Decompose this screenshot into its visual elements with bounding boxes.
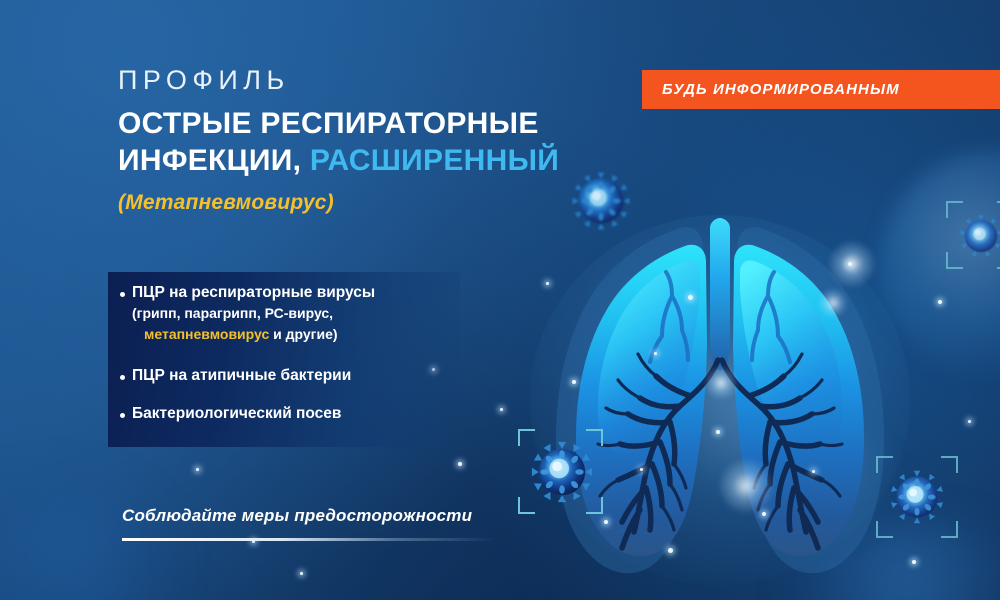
- highlighted-term: метапневмовирус: [144, 326, 269, 342]
- infographic-poster: ПРОФИЛЬ ОСТРЫЕ РЕСПИРАТОРНЫЕ ИНФЕКЦИИ, Р…: [0, 0, 1000, 600]
- subtitle-label: (Метапневмовирус): [118, 191, 638, 215]
- title-line-2-main: ИНФЕКЦИИ,: [118, 144, 301, 177]
- bullet-dot-icon: [120, 375, 125, 380]
- list-item: Бактериологический посев: [120, 404, 460, 424]
- list-item-label: ПЦР на атипичные бактерии: [132, 366, 351, 386]
- list-item: ПЦР на атипичные бактерии: [120, 366, 460, 386]
- list-item-sub-line-2: метапневмовирус и другие): [144, 324, 460, 345]
- virus-particle-far-right: [955, 210, 1000, 262]
- footer-divider: [122, 538, 497, 541]
- title-line-1: ОСТРЫЕ РЕСПИРАТОРНЫЕ: [118, 106, 638, 143]
- list-item-label: ПЦР на респираторные вирусы: [132, 283, 375, 303]
- status-badge: БУДЬ ИНФОРМИРОВАННЫМ: [642, 70, 1000, 109]
- list-item-sub-line-1: (грипп, парагрипп, РС-вирус,: [132, 303, 460, 324]
- list-item: ПЦР на респираторные вирусы: [120, 283, 460, 303]
- sparkle-dot: [968, 420, 971, 423]
- list-item-sub-tail: и другие): [269, 326, 337, 342]
- footer-label: Соблюдайте меры предосторожности: [122, 506, 522, 526]
- bullet-list: ПЦР на респираторные вирусы (грипп, пара…: [120, 283, 460, 424]
- bullet-dot-icon: [120, 292, 125, 297]
- sparkle-dot: [300, 572, 303, 575]
- bullet-dot-icon: [120, 413, 125, 418]
- sparkle-dot: [938, 300, 942, 304]
- sparkle-dot: [458, 462, 462, 466]
- status-badge-label: БУДЬ ИНФОРМИРОВАННЫМ: [662, 81, 900, 98]
- lungs-illustration: [520, 210, 920, 600]
- list-item-label: Бактериологический посев: [132, 404, 341, 424]
- title-line-2-accent: РАСШИРЕННЫЙ: [310, 144, 559, 177]
- kicker-label: ПРОФИЛЬ: [118, 66, 638, 94]
- sparkle-dot: [196, 468, 199, 471]
- virus-particle-left: [527, 437, 597, 507]
- virus-particle-right: [885, 465, 949, 529]
- footer-block: Соблюдайте меры предосторожности: [122, 506, 522, 541]
- sparkle-dot: [500, 408, 503, 411]
- title-line-2: ИНФЕКЦИИ, РАСШИРЕННЫЙ: [118, 143, 638, 180]
- headline-block: ПРОФИЛЬ ОСТРЫЕ РЕСПИРАТОРНЫЕ ИНФЕКЦИИ, Р…: [118, 66, 638, 215]
